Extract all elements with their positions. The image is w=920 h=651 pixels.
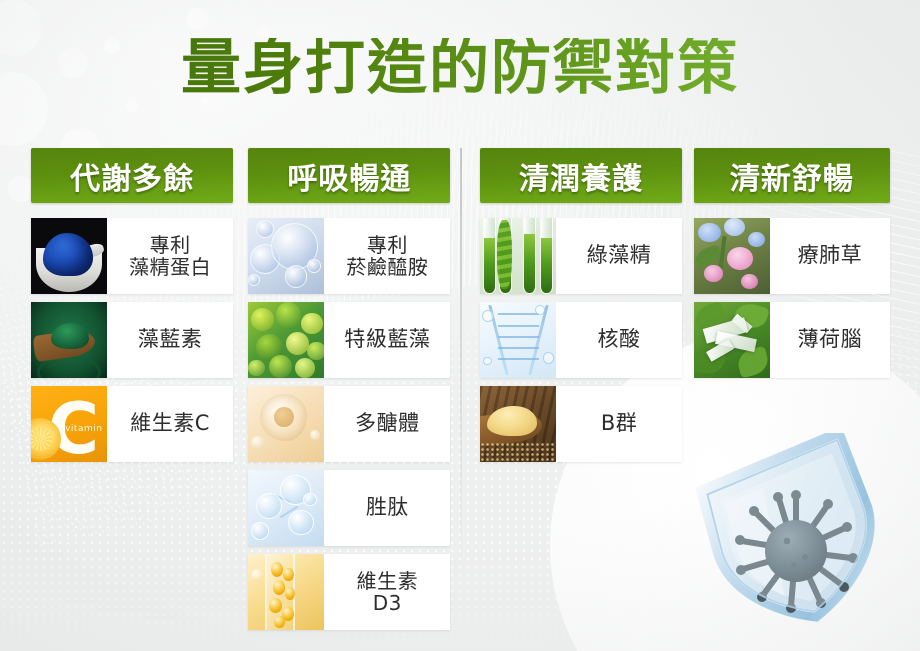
ingredient-card[interactable]: 專利 菸鹼醯胺 bbox=[248, 218, 450, 294]
ingredient-card[interactable]: 藻藍素 bbox=[31, 302, 233, 378]
ingredient-label: 綠藻精 bbox=[556, 218, 681, 294]
vitamin-b-complex-powder-photo bbox=[480, 386, 556, 462]
ingredient-card[interactable]: 維生素 D3 bbox=[248, 554, 450, 630]
ingredient-card[interactable]: 核酸 bbox=[480, 302, 681, 378]
ingredient-list-breathing: 專利 菸鹼醯胺 特級藍藻 bbox=[248, 218, 450, 630]
infographic-poster: 量身打造的防禦對策 代謝多餘 專利 藻精蛋白 bbox=[0, 0, 920, 651]
ingredient-label: 薄荷腦 bbox=[770, 302, 890, 378]
ingredient-label: 胜肽 bbox=[324, 470, 450, 546]
ingredient-label: B群 bbox=[556, 386, 681, 462]
ingredient-card[interactable]: 綠藻精 bbox=[480, 218, 681, 294]
ingredient-label: 藻藍素 bbox=[107, 302, 233, 378]
peptide-molecule-photo bbox=[248, 470, 324, 546]
column-header-breathing: 呼吸暢通 bbox=[248, 148, 450, 203]
ingredient-label: 專利 菸鹼醯胺 bbox=[324, 218, 450, 294]
ingredient-card[interactable]: 胜肽 bbox=[248, 470, 450, 546]
ingredient-card[interactable]: Cvitamin 維生素C bbox=[31, 386, 233, 462]
category-column-breathing: 呼吸暢通 專利 菸鹼醯胺 bbox=[248, 148, 450, 638]
ingredient-label: 多醣體 bbox=[324, 386, 450, 462]
premium-spirulina-cells-photo bbox=[248, 302, 324, 378]
polysaccharide-gel-photo bbox=[248, 386, 324, 462]
category-column-moisturizing: 清潤養護 綠藻精 bbox=[480, 148, 681, 638]
ingredient-list-freshness: 療肺草 薄荷腦 bbox=[694, 218, 890, 378]
ingredient-card[interactable]: 多醣體 bbox=[248, 386, 450, 462]
niacinamide-serum-bubbles-photo bbox=[248, 218, 324, 294]
ingredient-card[interactable]: 專利 藻精蛋白 bbox=[31, 218, 233, 294]
ingredient-label: 核酸 bbox=[556, 302, 681, 378]
protective-shield-icon bbox=[684, 433, 904, 643]
column-header-moisturizing: 清潤養護 bbox=[480, 148, 681, 203]
green-phycocyanin-powder-spoon-photo bbox=[31, 302, 107, 378]
menthol-crystals-mint-photo bbox=[694, 302, 770, 378]
nucleic-acid-dna-helix-photo bbox=[480, 302, 556, 378]
ingredient-list-moisturizing: 綠藻精 bbox=[480, 218, 681, 462]
ingredient-label: 特級藍藻 bbox=[324, 302, 450, 378]
category-column-metabolism: 代謝多餘 專利 藻精蛋白 藻藍素 bbox=[31, 148, 233, 638]
ingredient-label: 療肺草 bbox=[770, 218, 890, 294]
ingredient-label: 專利 藻精蛋白 bbox=[107, 218, 233, 294]
vitamin-c-orange-photo: Cvitamin bbox=[31, 386, 107, 462]
lungwort-flowers-photo bbox=[694, 218, 770, 294]
ingredient-card[interactable]: 薄荷腦 bbox=[694, 302, 890, 378]
ingredient-label: 維生素 D3 bbox=[324, 554, 450, 630]
ingredient-card[interactable]: B群 bbox=[480, 386, 681, 462]
ingredient-label: 維生素C bbox=[107, 386, 233, 462]
column-header-metabolism: 代謝多餘 bbox=[31, 148, 233, 203]
blue-algae-protein-powder-photo bbox=[31, 218, 107, 294]
column-header-freshness: 清新舒暢 bbox=[694, 148, 890, 203]
page-title: 量身打造的防禦對策 bbox=[0, 38, 920, 98]
ingredient-list-metabolism: 專利 藻精蛋白 藻藍素 Cvitamin bbox=[31, 218, 233, 462]
ingredient-card[interactable]: 特級藍藻 bbox=[248, 302, 450, 378]
ingredient-card[interactable]: 療肺草 bbox=[694, 218, 890, 294]
shield-virus-illustration bbox=[684, 433, 904, 643]
vitamin-d3-softgel-photo bbox=[248, 554, 324, 630]
chlorella-extract-test-tubes-photo bbox=[480, 218, 556, 294]
